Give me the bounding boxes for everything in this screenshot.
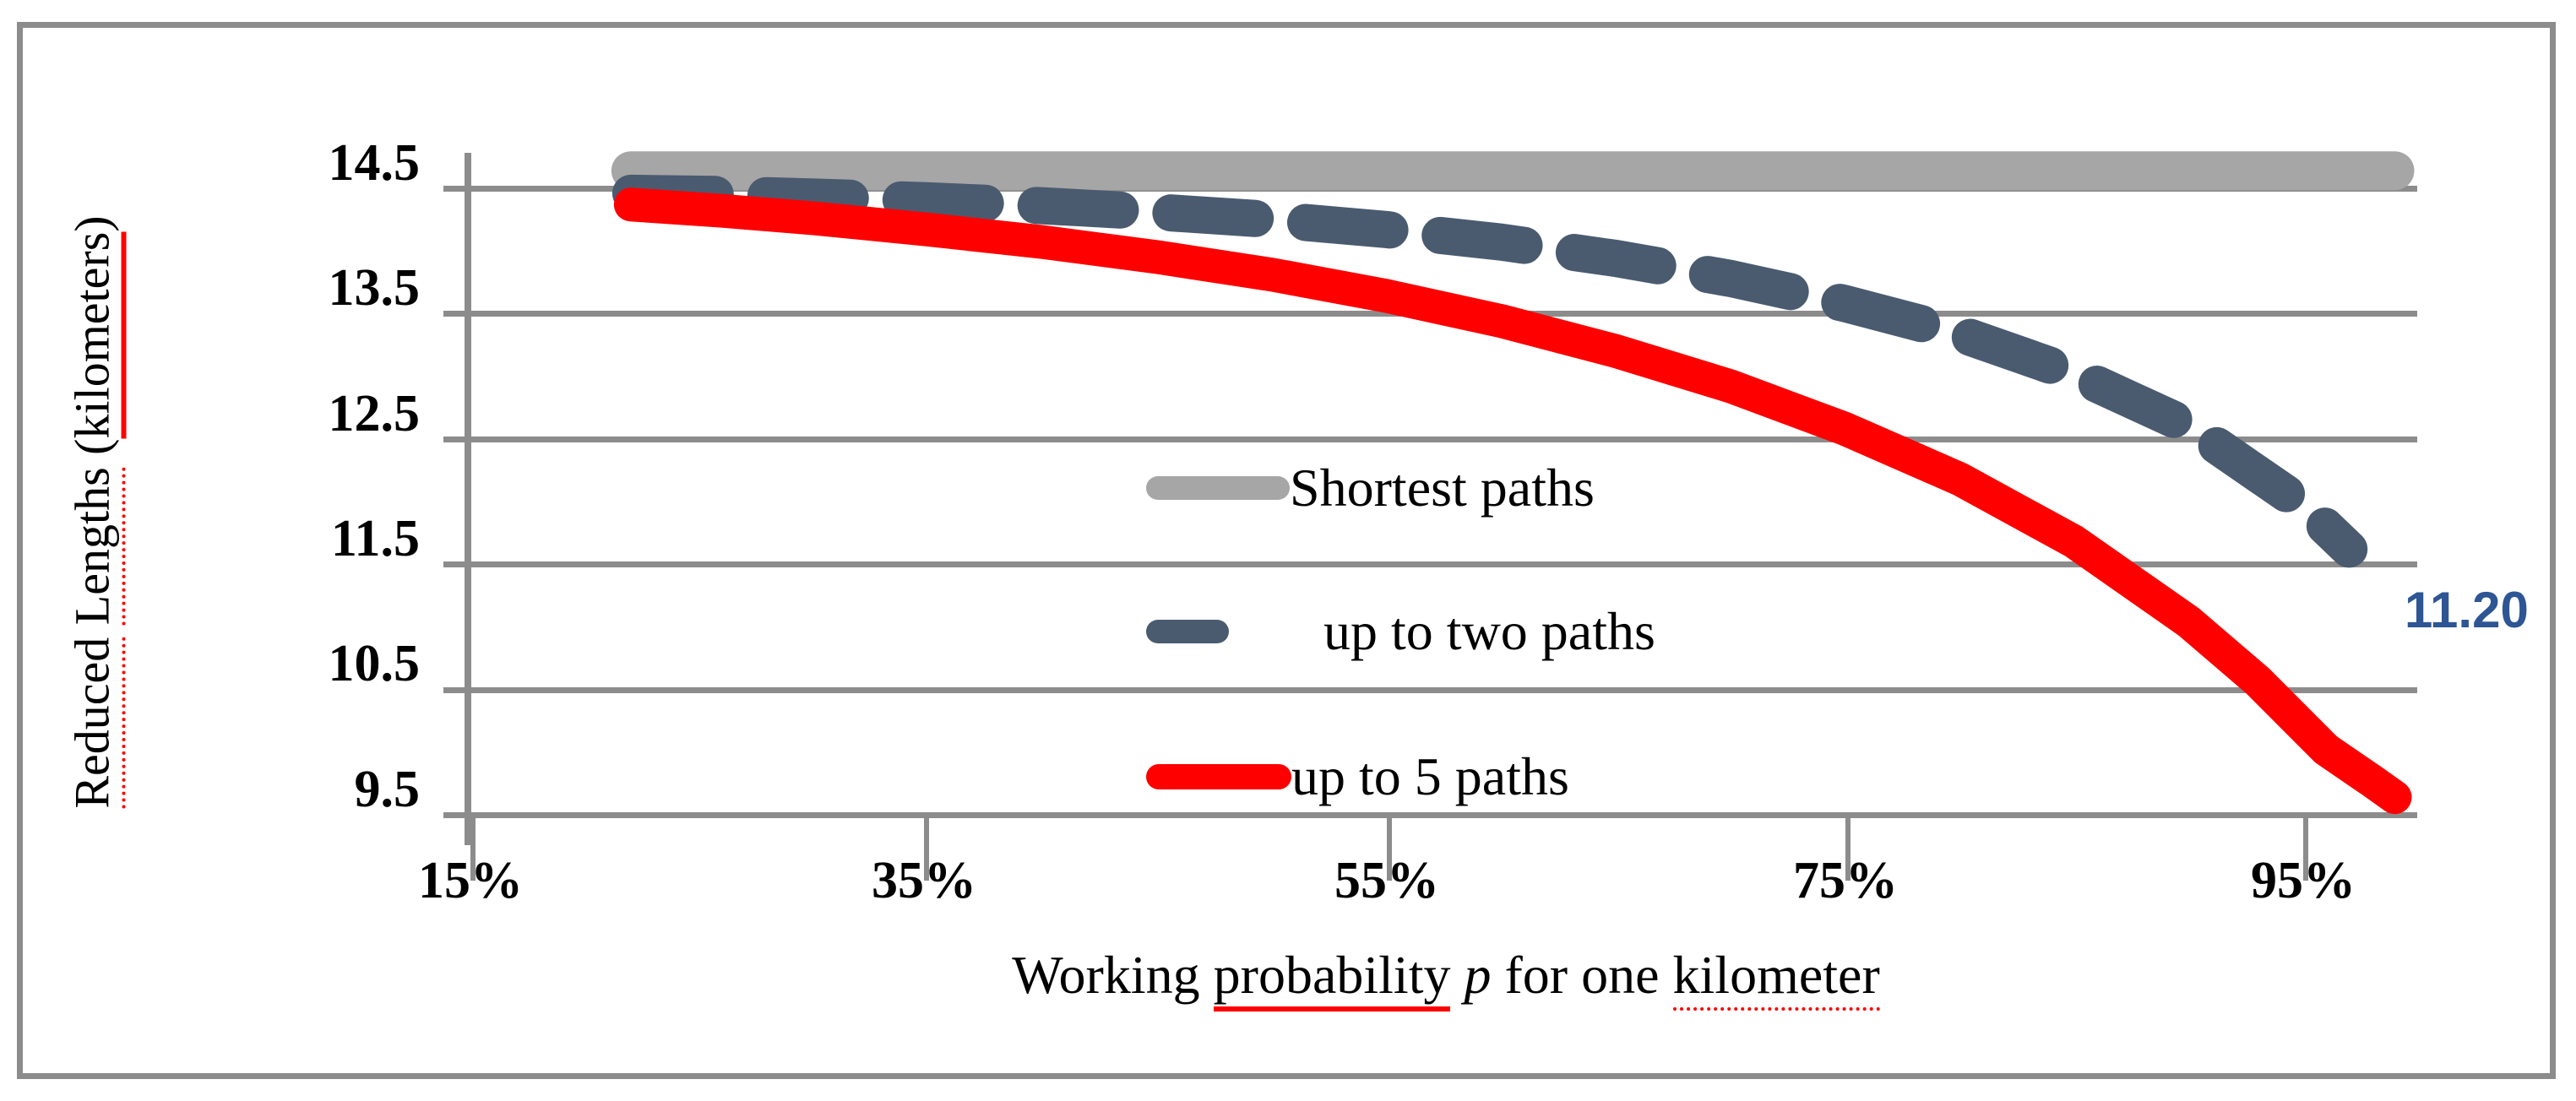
x-tick-label: 75% <box>1793 851 1898 911</box>
legend-item-two-paths: up to two paths <box>1146 589 1957 674</box>
xtitle-space-3 <box>1491 945 1504 1005</box>
x-axis-title-variable-p: p <box>1464 945 1491 1005</box>
legend-item-five-paths: up to 5 paths <box>1146 735 1957 819</box>
chart-legend: Shortest paths up to two paths up to 5 p… <box>1146 446 1957 826</box>
y-tick-label: 13.5 <box>329 258 421 318</box>
x-axis-title-word-working: Working <box>1012 945 1199 1005</box>
y-axis-title-paren-close: ) <box>65 215 120 231</box>
y-axis-title-word-reduced: Reduced <box>65 637 126 809</box>
y-axis-tick <box>443 437 465 442</box>
value-annotation-1120: 11.20 <box>2405 581 2529 639</box>
legend-label-shortest-paths: Shortest paths <box>1290 457 1595 519</box>
y-tick-label: 14.5 <box>329 133 421 193</box>
y-axis-tick-labels: 14.5 13.5 12.5 11.5 10.5 9.5 <box>175 28 420 872</box>
y-axis-tick <box>443 687 465 693</box>
legend-label-five-paths: up to 5 paths <box>1291 746 1569 808</box>
xtitle-space-1 <box>1200 945 1214 1005</box>
y-axis-tick <box>443 561 465 567</box>
chart-figure: Reduced Lengths (kilometers) 14.5 13.5 1… <box>0 0 2576 1101</box>
legend-swatch-five-paths <box>1146 764 1291 789</box>
x-axis-title-word-probability: probability <box>1214 945 1451 1012</box>
x-tick-label: 55% <box>1334 851 1439 911</box>
y-axis-title-word-kilometers: kilometers <box>65 232 127 439</box>
ytitle-space-2 <box>65 455 120 468</box>
xtitle-space-2 <box>1450 945 1464 1005</box>
xtitle-space-4 <box>1660 945 1673 1005</box>
y-axis-tick <box>443 186 465 192</box>
x-tick-label: 35% <box>872 851 976 911</box>
x-axis-title-word-for-one: for one <box>1504 945 1659 1005</box>
y-axis-title: Reduced Lengths (kilometers) <box>64 141 121 884</box>
legend-swatch-shortest-paths <box>1146 476 1290 500</box>
y-axis-title-word-lengths: Lengths <box>65 467 126 625</box>
y-tick-label: 11.5 <box>331 509 420 569</box>
legend-item-shortest-paths: Shortest paths <box>1146 446 1957 530</box>
legend-swatch-two-paths <box>1146 620 1229 643</box>
legend-label-two-paths: up to two paths <box>1323 600 1655 663</box>
y-tick-label: 9.5 <box>355 760 421 820</box>
y-tick-label: 10.5 <box>329 634 421 694</box>
x-tick-label: 95% <box>2251 851 2356 911</box>
x-tick-label: 15% <box>418 851 523 911</box>
y-axis-tick <box>443 311 465 317</box>
y-axis-title-paren-open: ( <box>65 439 120 455</box>
x-axis-title: Working probability p for one kilometer <box>470 944 2421 1006</box>
ytitle-space-1 <box>65 625 120 637</box>
figure-border: Reduced Lengths (kilometers) 14.5 13.5 1… <box>17 22 2556 1079</box>
y-axis-tick <box>443 812 465 818</box>
x-axis-title-word-kilometer: kilometer <box>1673 945 1880 1011</box>
y-tick-label: 12.5 <box>329 384 421 444</box>
